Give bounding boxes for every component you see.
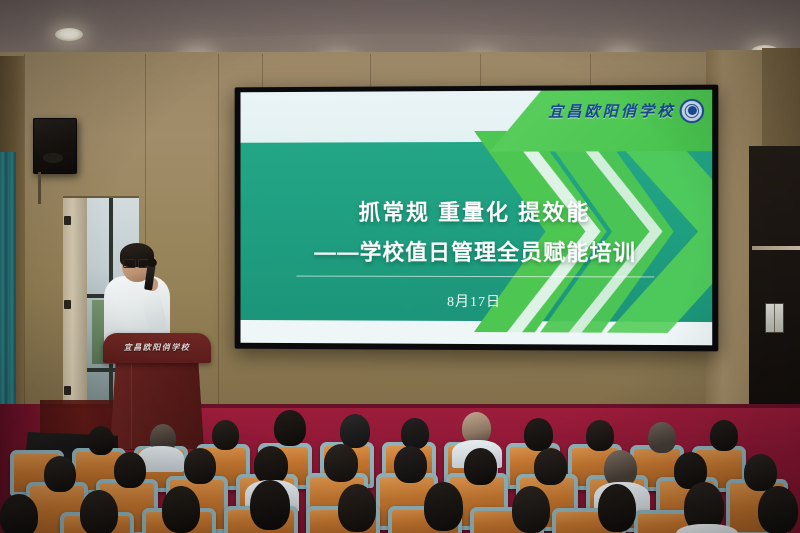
- door-hinge: [64, 300, 71, 309]
- attendee-head: [424, 482, 463, 531]
- podium-label: 宜昌欧阳俏学校: [103, 342, 211, 353]
- auditorium-photo: 宜昌欧阳俏学校 抓常规 重量化 提效能 ——学校值日管理全员赋能培训 8月17日…: [0, 0, 800, 533]
- wall-seam: [590, 54, 591, 86]
- attendee-head: [598, 484, 636, 532]
- door-hinge: [64, 386, 71, 395]
- attendee-head: [274, 410, 306, 446]
- attendee-head: [758, 486, 798, 533]
- school-logo-text: 宜昌欧阳俏学校: [548, 100, 675, 122]
- wall-seam: [262, 54, 263, 90]
- audience: [0, 398, 800, 533]
- attendee-head: [586, 420, 614, 451]
- side-curtain: [0, 152, 16, 414]
- attendee-head: [184, 448, 216, 484]
- attendee-head: [394, 446, 427, 483]
- attendee-head: [524, 418, 553, 451]
- attendee-head: [464, 448, 497, 485]
- attendee-head: [114, 452, 146, 488]
- attendee-head: [710, 420, 738, 451]
- open-door: [63, 198, 87, 430]
- attendee-head: [534, 448, 567, 485]
- wall-seam: [370, 54, 371, 88]
- slide-subtitle: ——学校值日管理全员赋能培训: [241, 235, 713, 268]
- school-seal-icon: [680, 99, 704, 123]
- attendee-head: [88, 426, 114, 455]
- wall-seam: [218, 54, 219, 424]
- led-display-screen: 宜昌欧阳俏学校 抓常规 重量化 提效能 ——学校值日管理全员赋能培训 8月17日: [241, 90, 713, 346]
- attendee-head: [324, 444, 358, 482]
- slide-date: 8月17日: [241, 290, 713, 312]
- door-hinge: [64, 216, 71, 225]
- attendee-head: [212, 420, 239, 450]
- attendee-head: [162, 486, 200, 533]
- attendee-head: [0, 494, 38, 533]
- attendee-head: [512, 486, 550, 533]
- led-display-frame: 宜昌欧阳俏学校 抓常规 重量化 提效能 ——学校值日管理全员赋能培训 8月17日: [235, 85, 719, 352]
- wall-mounted-speaker: [33, 118, 77, 174]
- wall-seam: [480, 54, 481, 87]
- downlight-1: [55, 28, 83, 41]
- slide-title: 抓常规 重量化 提效能: [241, 194, 713, 226]
- attendee-head: [254, 446, 288, 484]
- attendee-head: [401, 418, 429, 449]
- right-alcove: [749, 146, 800, 438]
- attendee-head: [80, 490, 118, 533]
- attendee-head: [744, 454, 777, 491]
- attendee-head: [250, 480, 290, 530]
- school-logo: 宜昌欧阳俏学校: [548, 99, 704, 124]
- alcove-rail: [752, 246, 800, 250]
- wall-seam: [24, 54, 25, 424]
- attendee-head: [340, 414, 370, 448]
- attendee-head: [338, 484, 376, 532]
- attendee-head: [648, 422, 676, 453]
- attendee-head: [44, 456, 76, 492]
- podium-top: 宜昌欧阳俏学校: [103, 333, 211, 363]
- alcove-window: [765, 303, 784, 333]
- speaker-bracket: [38, 172, 41, 204]
